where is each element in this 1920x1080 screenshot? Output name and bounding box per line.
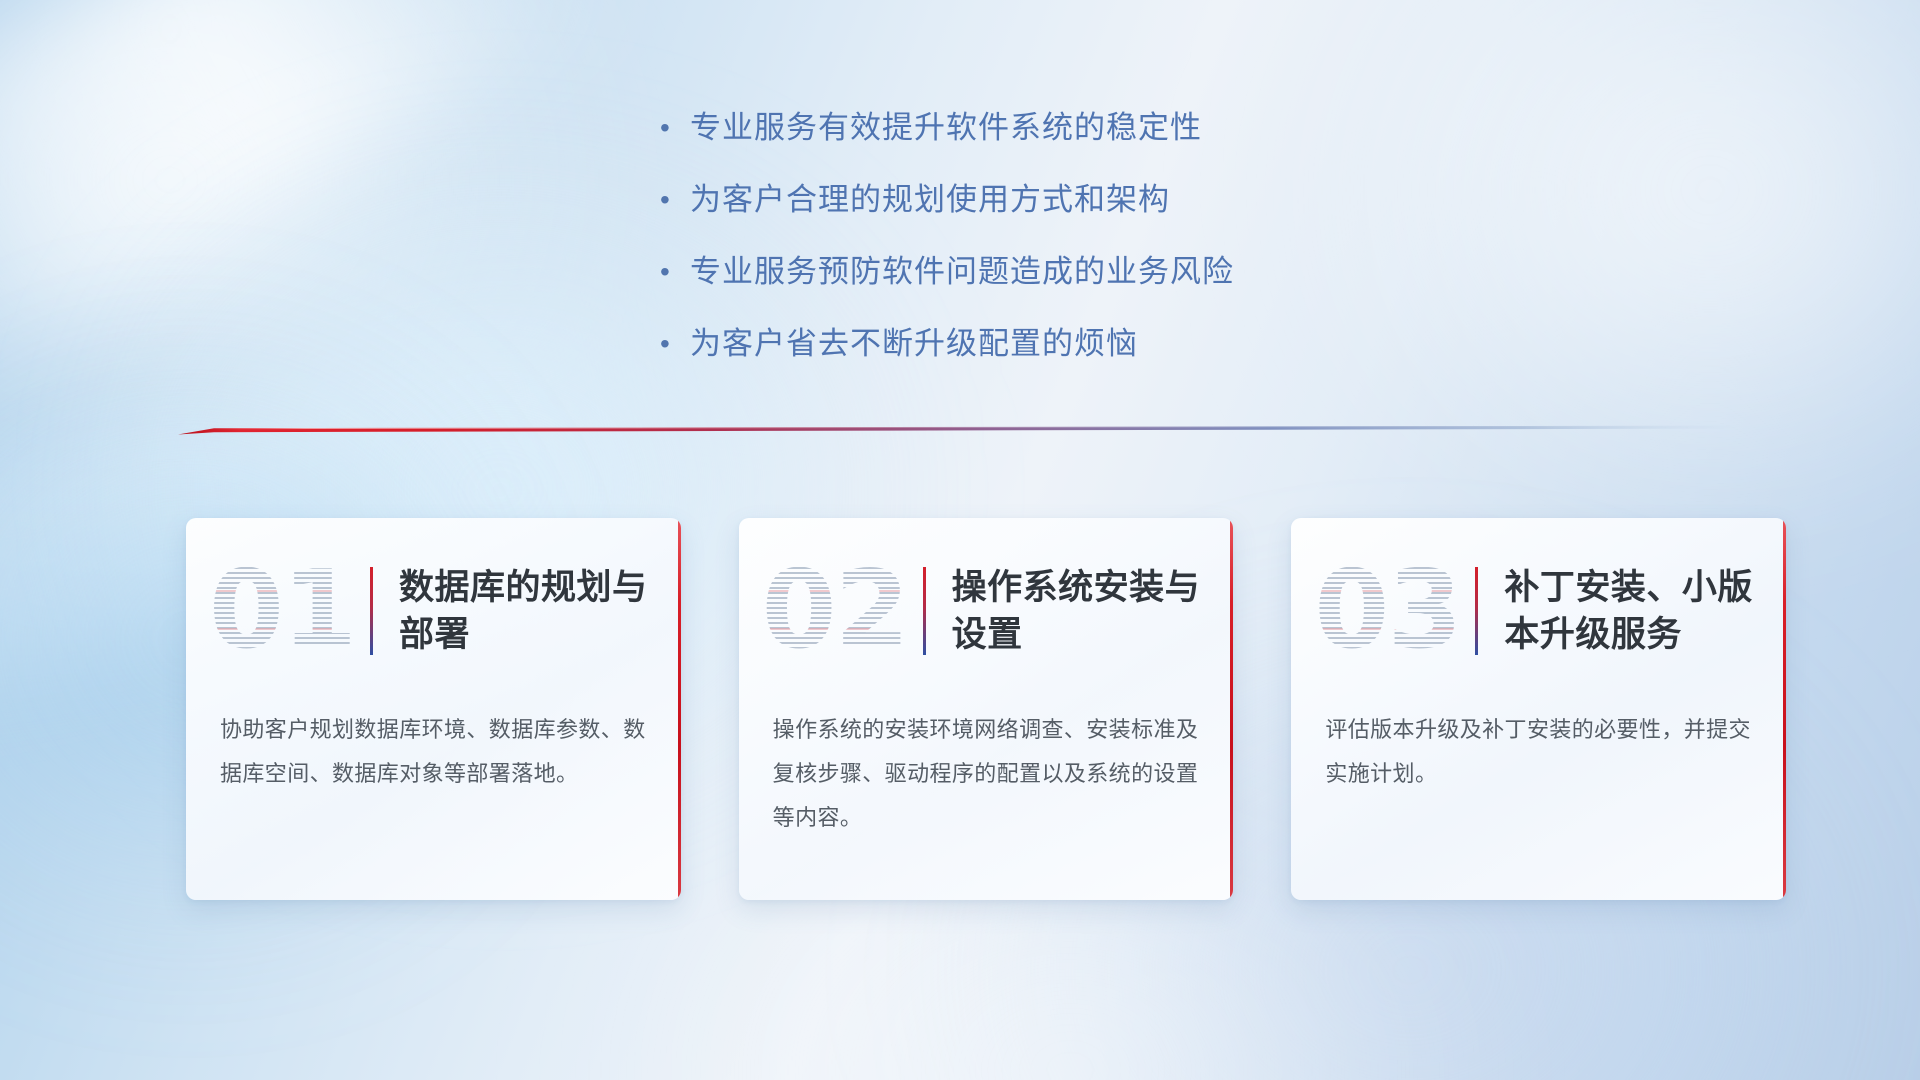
card-title: 数据库的规划与部署 <box>399 564 681 658</box>
card-accent-bar <box>370 567 373 655</box>
card-title: 操作系统安装与设置 <box>952 564 1234 658</box>
card-description: 评估版本升级及补丁安装的必要性，并提交实施计划。 <box>1291 704 1786 796</box>
card-description: 协助客户规划数据库环境、数据库参数、数据库空间、数据库对象等部署落地。 <box>186 704 681 796</box>
service-card[interactable]: 0202 操作系统安装与设置 操作系统的安装环境网络调查、安装标准及复核步骤、驱… <box>739 518 1234 900</box>
card-accent-bar <box>1475 567 1478 655</box>
bullet-text: 为客户合理的规划使用方式和架构 <box>690 180 1170 220</box>
bullet-text: 为客户省去不断升级配置的烦恼 <box>690 324 1138 364</box>
service-card[interactable]: 0303 补丁安装、小版本升级服务 评估版本升级及补丁安装的必要性，并提交实施计… <box>1291 518 1786 900</box>
list-item: • 为客户省去不断升级配置的烦恼 <box>660 324 1480 364</box>
bullet-text: 专业服务有效提升软件系统的稳定性 <box>690 108 1202 148</box>
card-accent-bar <box>923 567 926 655</box>
service-card[interactable]: 0101 数据库的规划与部署 协助客户规划数据库环境、数据库参数、数据库空间、数… <box>186 518 681 900</box>
card-number-watermark: 0101 <box>208 552 356 670</box>
card-number-watermark: 0303 <box>1313 552 1461 670</box>
card-title: 补丁安装、小版本升级服务 <box>1504 564 1786 658</box>
card-number-tint: 01 <box>208 552 356 670</box>
bullet-text: 专业服务预防软件问题造成的业务风险 <box>690 252 1234 292</box>
service-card-list: 0101 数据库的规划与部署 协助客户规划数据库环境、数据库参数、数据库空间、数… <box>186 518 1786 906</box>
card-description: 操作系统的安装环境网络调查、安装标准及复核步骤、驱动程序的配置以及系统的设置等内… <box>739 704 1234 840</box>
bullet-dot-icon: • <box>660 324 690 364</box>
list-item: • 为客户合理的规划使用方式和架构 <box>660 180 1480 220</box>
benefits-bullet-list: • 专业服务有效提升软件系统的稳定性 • 为客户合理的规划使用方式和架构 • 专… <box>660 108 1480 396</box>
card-number-tint: 03 <box>1313 552 1461 670</box>
tapered-accent-line <box>178 418 1738 440</box>
card-number-watermark: 0202 <box>761 552 909 670</box>
card-number-tint: 02 <box>761 552 909 670</box>
bullet-dot-icon: • <box>660 180 690 220</box>
card-header: 0202 操作系统安装与设置 <box>739 518 1234 704</box>
bullet-dot-icon: • <box>660 108 690 148</box>
card-header: 0101 数据库的规划与部署 <box>186 518 681 704</box>
list-item: • 专业服务有效提升软件系统的稳定性 <box>660 108 1480 148</box>
bullet-dot-icon: • <box>660 252 690 292</box>
card-header: 0303 补丁安装、小版本升级服务 <box>1291 518 1786 704</box>
list-item: • 专业服务预防软件问题造成的业务风险 <box>660 252 1480 292</box>
